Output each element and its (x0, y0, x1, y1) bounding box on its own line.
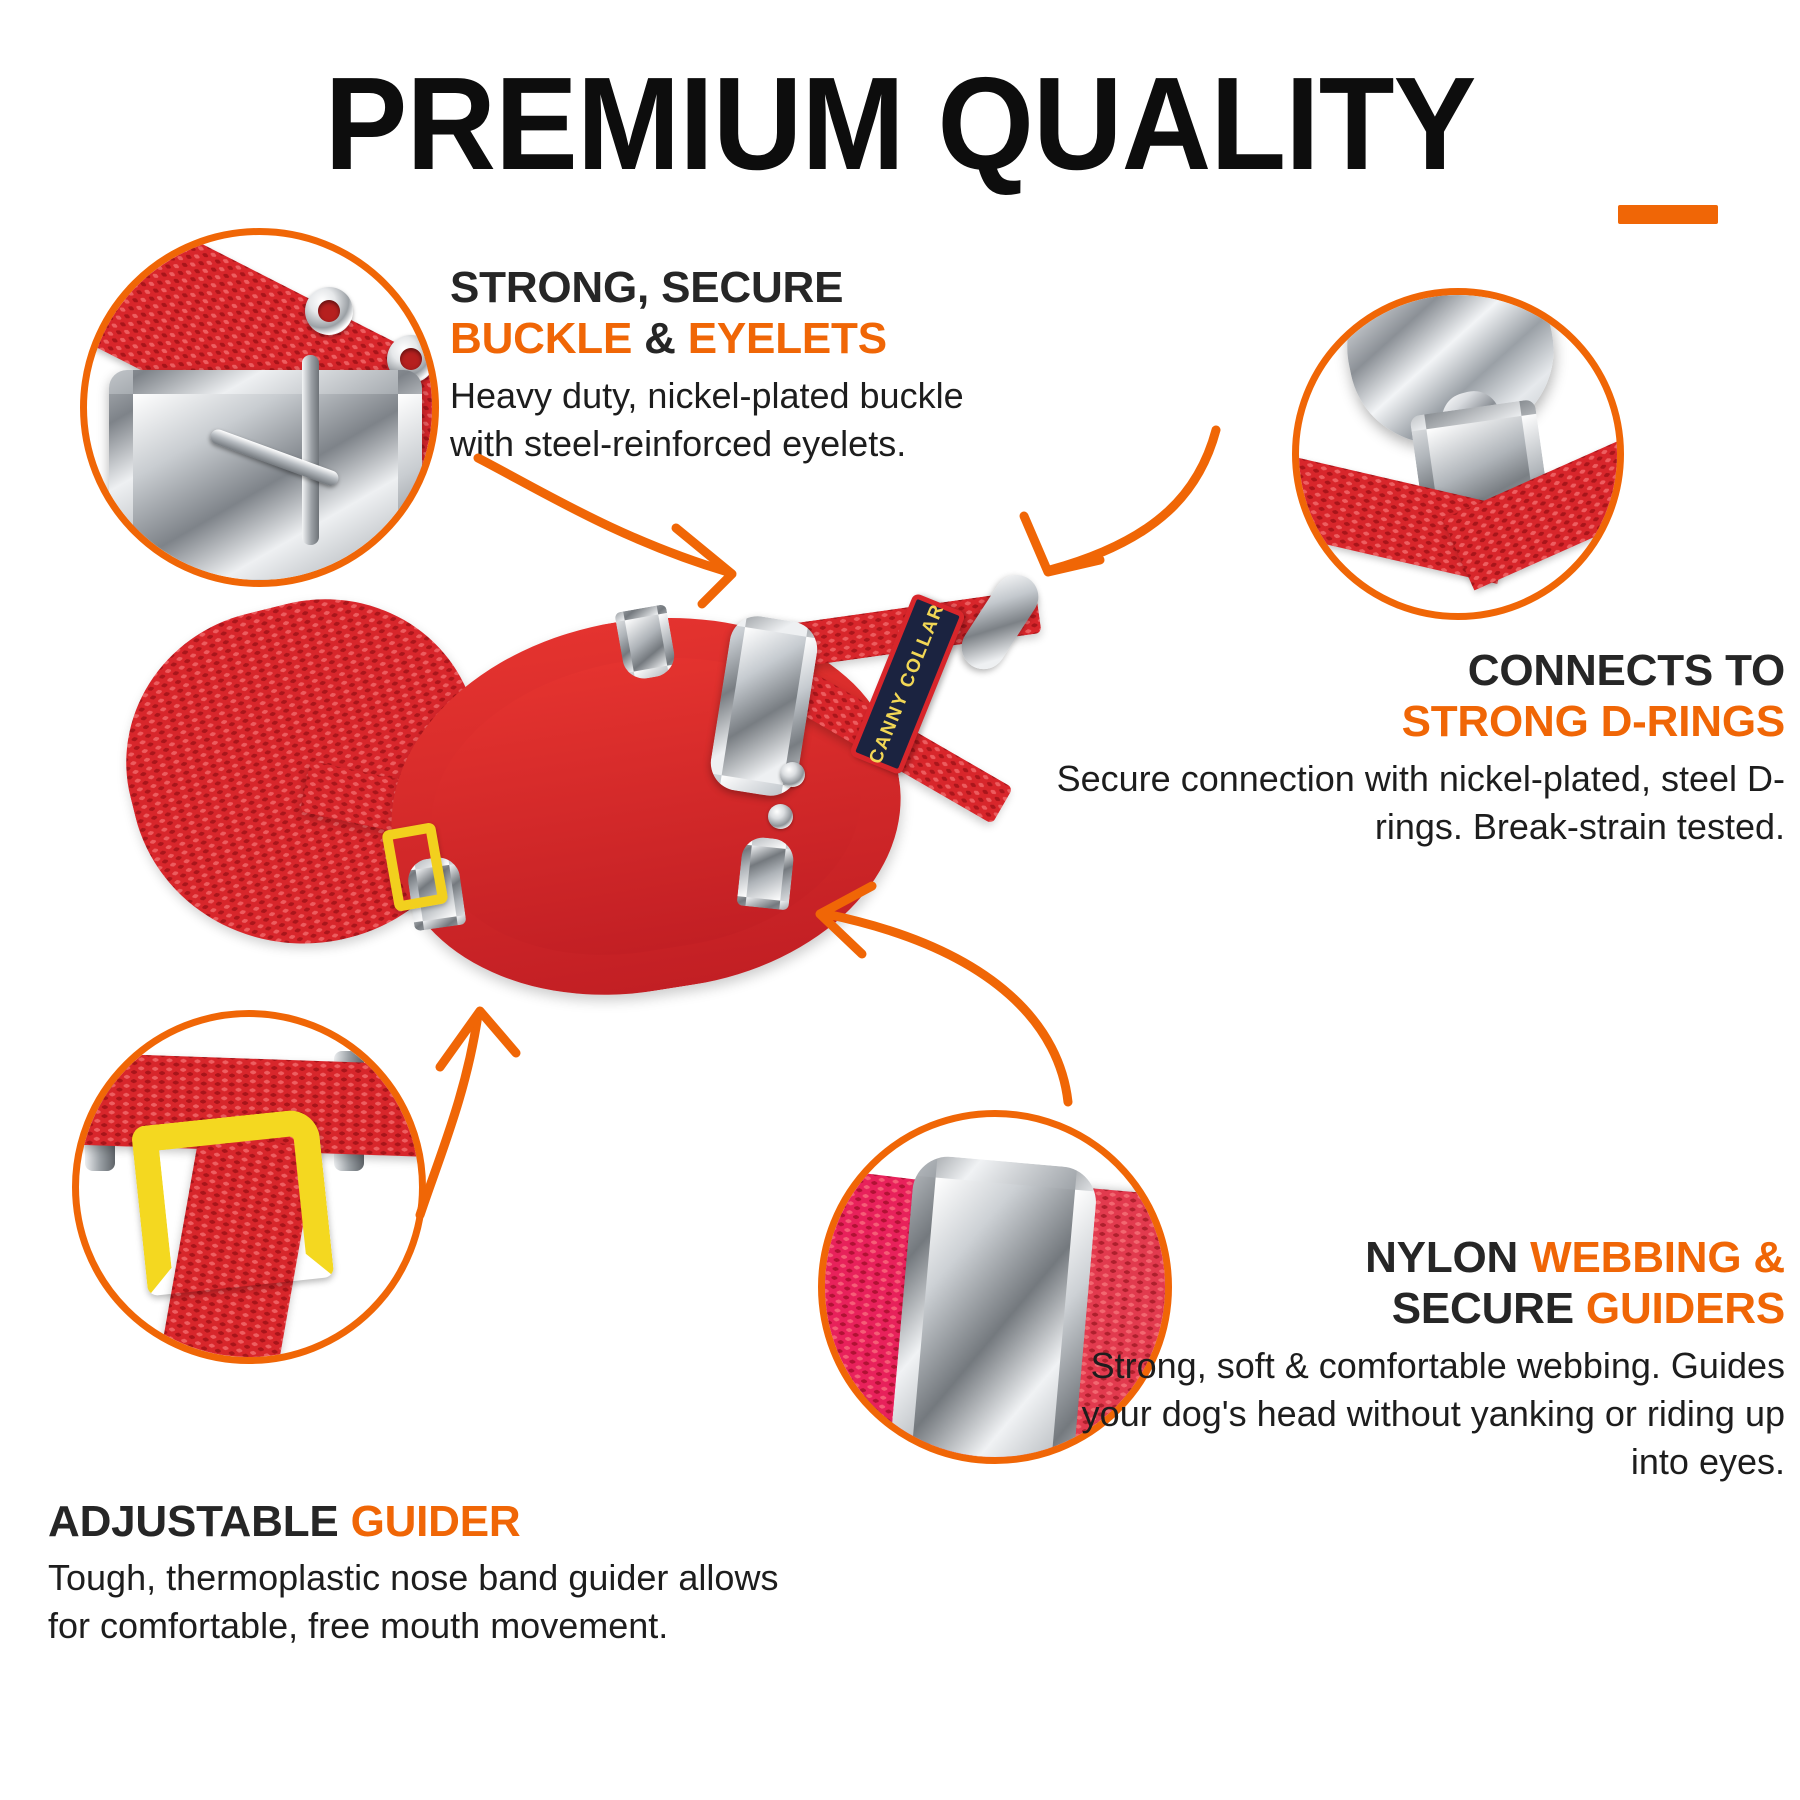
photo-inner (87, 235, 432, 580)
eyelet-icon (780, 762, 805, 787)
heading-line1-dark: NYLON (1365, 1233, 1530, 1282)
title-accent-bar (1618, 205, 1718, 224)
d-ring-icon (736, 835, 795, 910)
product-photo-head-collar: CANNY COLLAR (120, 560, 1180, 1030)
heading-part-dark: CONNECTS TO (1468, 646, 1785, 695)
photo-adjustable-guider (72, 1010, 426, 1364)
photo-inner (1299, 295, 1617, 613)
heading-line2-dark: SECURE (1392, 1284, 1586, 1333)
buckle-bar (302, 355, 319, 545)
feature-body-guider: Tough, thermoplastic nose band guider al… (48, 1554, 808, 1650)
feature-heading-guider: ADJUSTABLE GUIDER (48, 1496, 808, 1547)
feature-heading-nylon: NYLON WEBBING & SECURE GUIDERS (1045, 1232, 1785, 1335)
feature-body-buckle: Heavy duty, nickel-plated buckle with st… (450, 372, 970, 468)
buckle-frame (109, 370, 422, 580)
photo-d-rings (1292, 288, 1624, 620)
yellow-guider-icon (131, 1108, 335, 1297)
photo-buckle-eyelets (80, 228, 439, 587)
heading-line1-orange: WEBBING & (1530, 1233, 1785, 1282)
feature-block-guider: ADJUSTABLE GUIDER Tough, thermoplastic n… (48, 1496, 808, 1650)
heading-part-orange-2: EYELETS (688, 314, 887, 363)
heading-part-orange: GUIDER (351, 1497, 521, 1546)
heading-line2-orange: GUIDERS (1586, 1284, 1785, 1333)
feature-body-nylon: Strong, soft & comfortable webbing. Guid… (1045, 1342, 1785, 1486)
heading-part-dark: STRONG, SECURE (450, 263, 843, 312)
eyelet-icon (305, 287, 353, 335)
feature-block-buckle: STRONG, SECURE BUCKLE & EYELETS Heavy du… (450, 262, 970, 468)
photo-inner (79, 1017, 419, 1357)
eyelet-icon (768, 804, 793, 829)
heading-part-orange: BUCKLE (450, 314, 632, 363)
heading-connector: & (632, 314, 688, 363)
heading-part-orange: STRONG D-RINGS (1402, 697, 1785, 746)
heading-part-dark: ADJUSTABLE (48, 1497, 351, 1546)
page-title: PREMIUM QUALITY (54, 58, 1746, 190)
infographic-canvas: PREMIUM QUALITY STRONG, SECURE BUCKLE & … (0, 0, 1800, 1800)
feature-block-nylon: NYLON WEBBING & SECURE GUIDERS Strong, s… (1045, 1232, 1785, 1486)
feature-heading-buckle: STRONG, SECURE BUCKLE & EYELETS (450, 262, 970, 365)
